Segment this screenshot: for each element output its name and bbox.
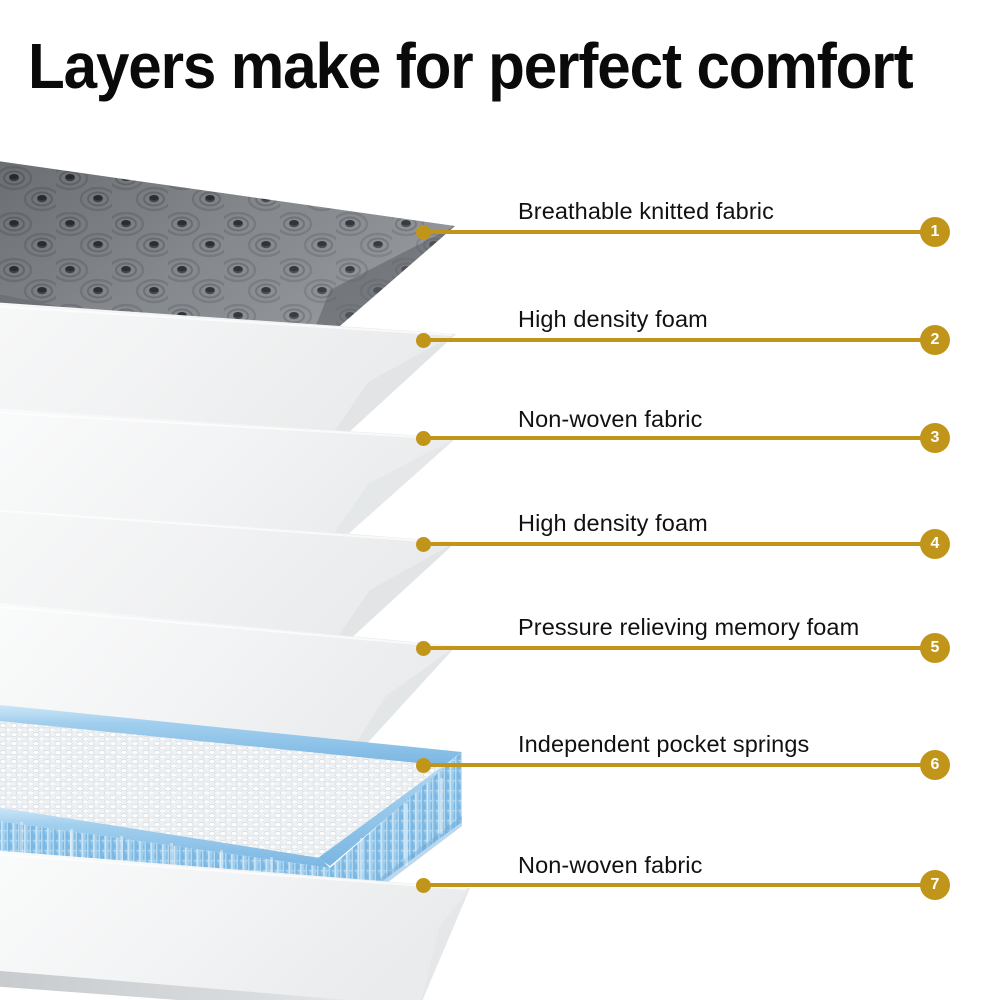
page-title: Layers make for perfect comfort <box>28 30 921 102</box>
leader-line-7 <box>424 883 924 887</box>
layer-label-4: High density foam <box>518 510 708 537</box>
leader-dot-1 <box>416 225 431 240</box>
layer-label-1: Breathable knitted fabric <box>518 198 774 225</box>
leader-line-2 <box>424 338 924 342</box>
leader-line-5 <box>424 646 924 650</box>
leader-line-3 <box>424 436 924 440</box>
layer-diagram-page: Layers make for perfect comfort <box>0 0 1000 1000</box>
layer-label-6: Independent pocket springs <box>518 731 809 758</box>
layer-label-7: Non-woven fabric <box>518 852 702 879</box>
leader-line-1 <box>424 230 924 234</box>
leader-dot-6 <box>416 758 431 773</box>
leader-dot-2 <box>416 333 431 348</box>
layer-badge-7[interactable]: 7 <box>920 870 950 900</box>
layer-badge-3[interactable]: 3 <box>920 423 950 453</box>
mattress-layers-illustration <box>0 120 1000 1000</box>
layer-label-2: High density foam <box>518 306 708 333</box>
layer-badge-2[interactable]: 2 <box>920 325 950 355</box>
layer-badge-1[interactable]: 1 <box>920 217 950 247</box>
layer-badge-4[interactable]: 4 <box>920 529 950 559</box>
leader-dot-5 <box>416 641 431 656</box>
layer-badge-5[interactable]: 5 <box>920 633 950 663</box>
layer-label-5: Pressure relieving memory foam <box>518 614 859 641</box>
leader-dot-3 <box>416 431 431 446</box>
leader-dot-4 <box>416 537 431 552</box>
layer-label-3: Non-woven fabric <box>518 406 702 433</box>
layer-badge-6[interactable]: 6 <box>920 750 950 780</box>
leader-line-4 <box>424 542 924 546</box>
leader-dot-7 <box>416 878 431 893</box>
leader-line-6 <box>424 763 924 767</box>
